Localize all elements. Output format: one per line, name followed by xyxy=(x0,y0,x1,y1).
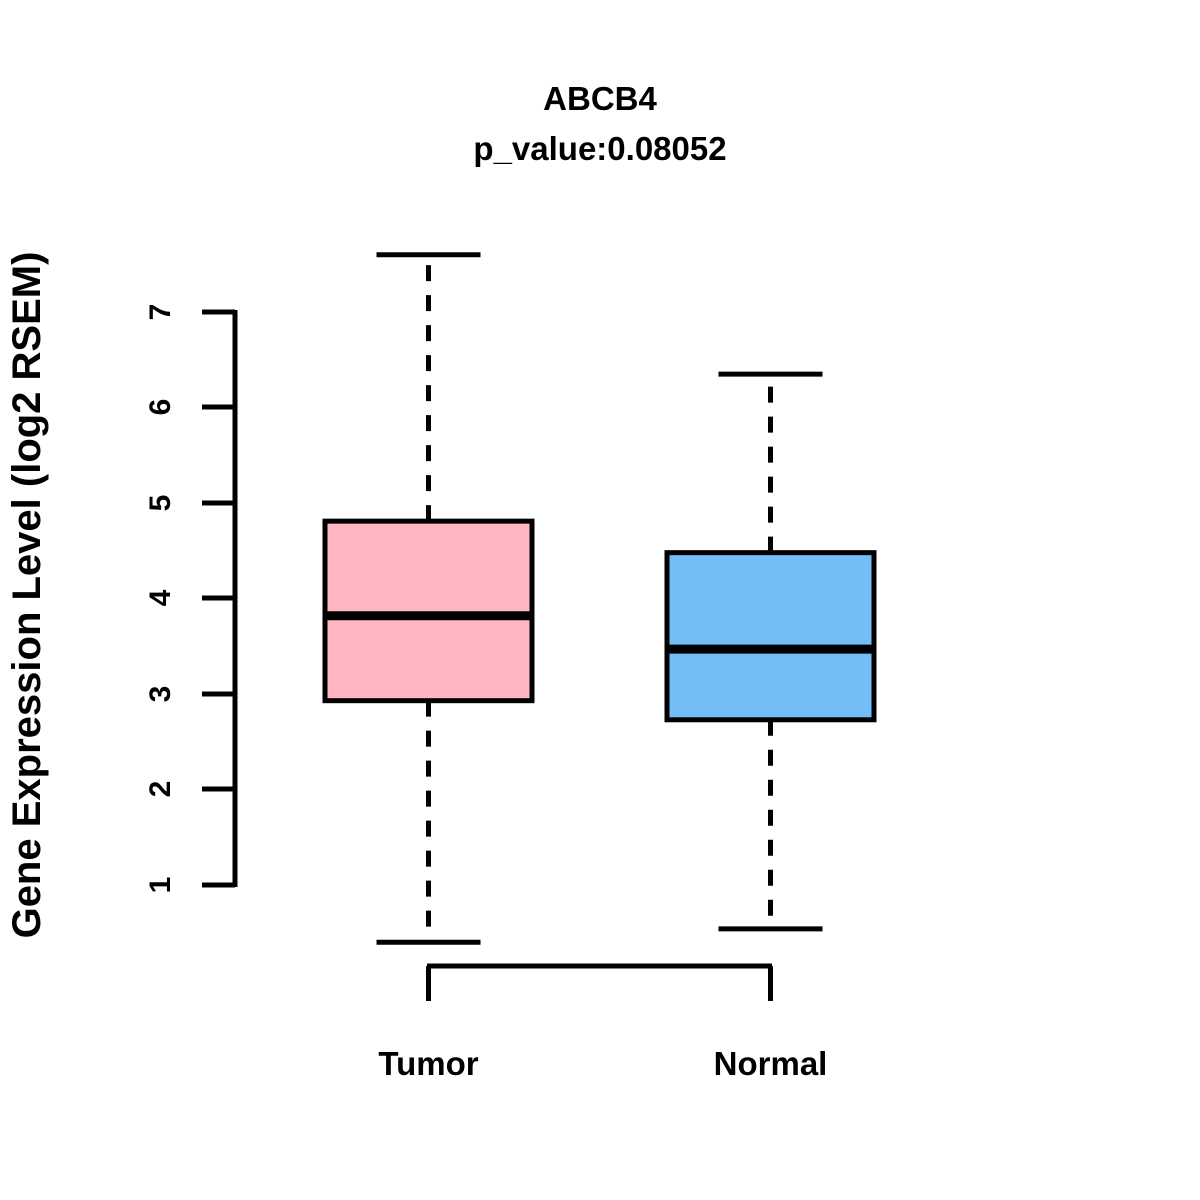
y-tick-label-3: 3 xyxy=(144,686,177,703)
plot-background xyxy=(0,0,1200,1200)
y-tick-label-2: 2 xyxy=(144,781,177,798)
y-axis-title: Gene Expression Level (log2 RSEM) xyxy=(5,252,49,939)
y-tick-label-7: 7 xyxy=(144,304,177,321)
boxplot-canvas: ABCB4 p_value:0.08052 Gene Expression Le… xyxy=(0,0,1200,1200)
y-tick-label-6: 6 xyxy=(144,399,177,416)
x-label-tumor: Tumor xyxy=(378,1045,478,1082)
normal-box[interactable] xyxy=(667,553,874,720)
chart-subtitle: p_value:0.08052 xyxy=(473,130,726,167)
boxplot-figure: ABCB4 p_value:0.08052 Gene Expression Le… xyxy=(0,0,1200,1200)
y-tick-label-1: 1 xyxy=(144,877,177,894)
chart-title: ABCB4 xyxy=(543,80,657,117)
y-tick-label-4: 4 xyxy=(144,589,177,606)
tumor-box[interactable] xyxy=(325,521,532,701)
x-label-normal: Normal xyxy=(714,1045,828,1082)
y-tick-label-5: 5 xyxy=(144,495,177,512)
